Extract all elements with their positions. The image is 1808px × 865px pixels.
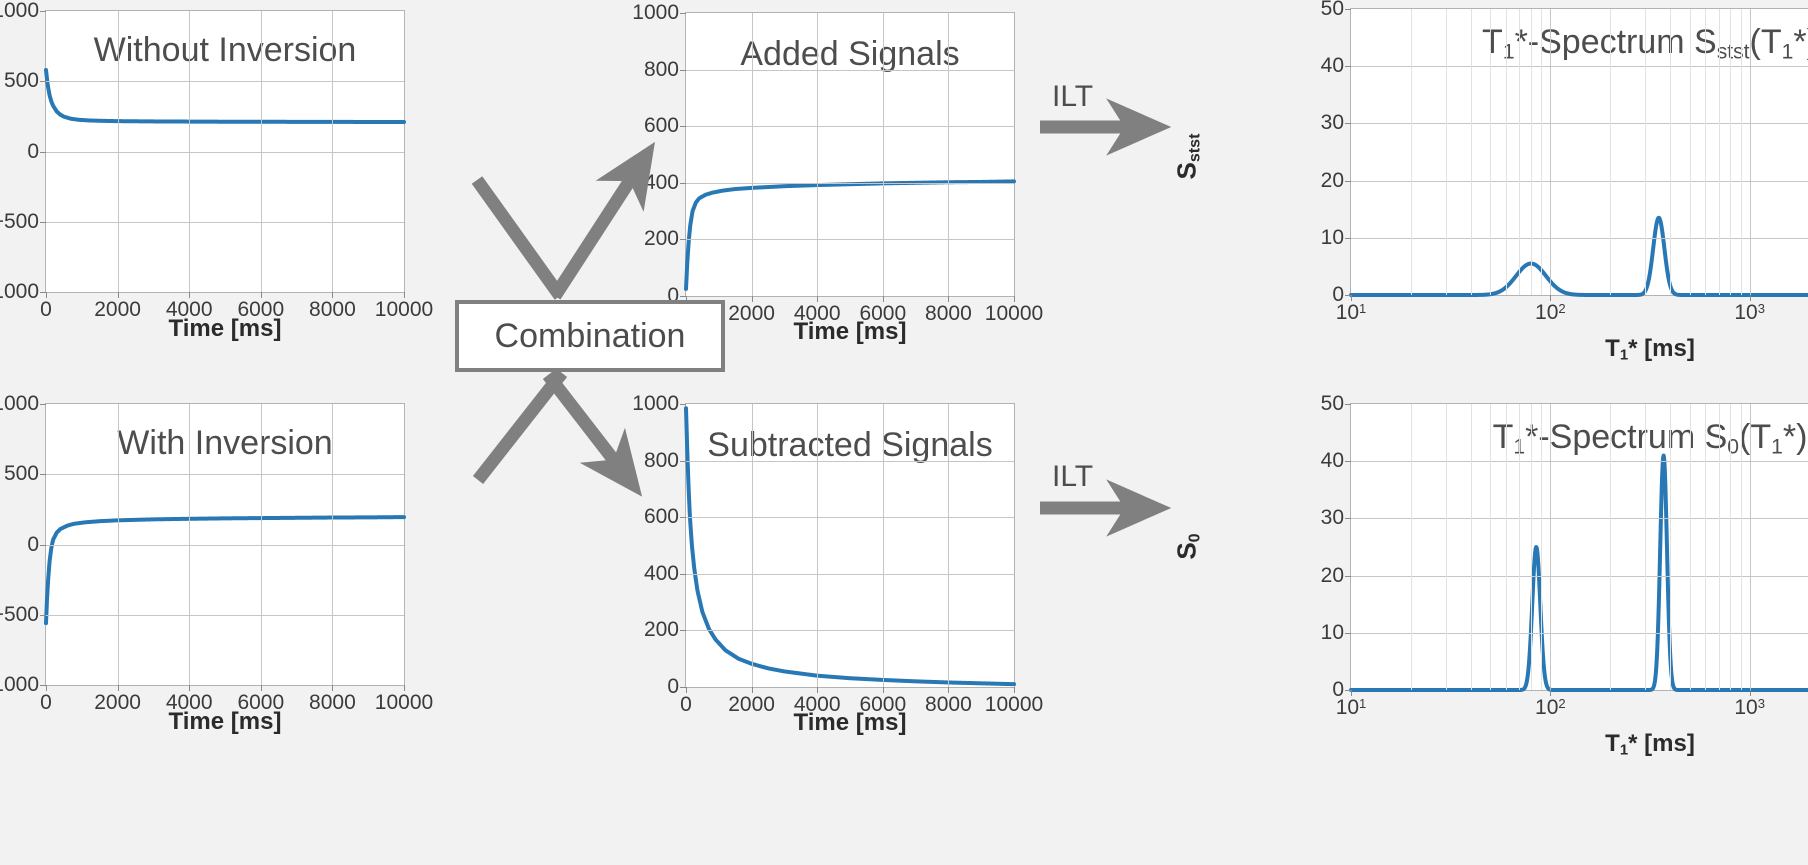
x-axis-tick-mark: [189, 685, 190, 691]
gridline-horizontal: [1351, 66, 1808, 67]
gridline-horizontal: [46, 81, 404, 82]
y-axis-tick-mark: [680, 13, 686, 14]
y-axis-tick-mark: [680, 183, 686, 184]
gridline-vertical: [752, 13, 753, 296]
gridline-vertical: [1550, 404, 1551, 690]
gridline-horizontal: [46, 222, 404, 223]
gridline-vertical-minor: [1670, 9, 1671, 295]
y-axis-tick-label: −500: [0, 603, 39, 627]
gridline-horizontal: [686, 239, 1014, 240]
gridline-vertical-minor: [1610, 9, 1611, 295]
arrow-with-inversion-to-combination: [478, 373, 562, 480]
y-axis-tick-label: 20: [1321, 564, 1344, 588]
y-axis-tick-label: 500: [4, 462, 39, 486]
gridline-vertical: [1550, 9, 1551, 295]
gridline-vertical-minor: [1730, 404, 1731, 690]
y-axis-tick-label: 50: [1321, 0, 1344, 21]
panel-subtracted-signals: Subtracted Signals 100080060040020000200…: [630, 385, 1050, 745]
gridline-vertical: [189, 404, 190, 685]
gridline-horizontal: [1351, 181, 1808, 182]
gridline-vertical: [817, 13, 818, 296]
y-axis-tick-mark: [1345, 518, 1351, 519]
x-axis-tick-mark: [817, 296, 818, 302]
x-axis-tick-mark: [817, 687, 818, 693]
gridline-horizontal: [1351, 633, 1808, 634]
y-axis-tick-label: 0: [27, 533, 39, 557]
gridline-vertical: [817, 404, 818, 687]
y-axis-tick-label: 40: [1321, 54, 1344, 78]
y-axis-tick-mark: [1345, 181, 1351, 182]
gridline-vertical-minor: [1531, 9, 1532, 295]
y-axis-tick-mark: [1345, 66, 1351, 67]
y-axis-tick-mark: [680, 70, 686, 71]
x-axis-tick-mark: [883, 296, 884, 302]
gridline-vertical-minor: [1519, 9, 1520, 295]
gridline-vertical-minor: [1645, 9, 1646, 295]
y-axis-tick-mark: [1345, 238, 1351, 239]
y-axis-tick-label: 30: [1321, 111, 1344, 135]
gridline-vertical: [948, 404, 949, 687]
gridline-vertical-minor: [1670, 404, 1671, 690]
y-axis-tick-label: −1000: [0, 280, 39, 304]
y-axis-tick-label: −1000: [0, 673, 39, 697]
x-axis-tick-mark: [686, 687, 687, 693]
gridline-vertical: [948, 13, 949, 296]
x-axis-tick-mark: [948, 296, 949, 302]
gridline-vertical-minor: [1471, 9, 1472, 295]
y-axis-tick-label: 1000: [632, 392, 679, 416]
xlabel-without-inversion: Time [ms]: [45, 315, 405, 343]
gridline-vertical-minor: [1645, 404, 1646, 690]
xlabel-spectrum-sstst: T1* [ms]: [1350, 335, 1808, 364]
gridline-vertical-minor: [1541, 9, 1542, 295]
gridline-vertical-minor: [1719, 9, 1720, 295]
gridline-vertical: [1750, 404, 1751, 690]
y-axis-tick-label: 200: [644, 227, 679, 251]
x-axis-tick-mark: [261, 292, 262, 298]
gridline-vertical: [189, 11, 190, 292]
xlabel-star: * [ms]: [1628, 335, 1695, 362]
ylabel-s0: S0: [1171, 502, 1204, 592]
gridline-vertical-minor: [1446, 9, 1447, 295]
ylabel-sstst: Sstst: [1171, 112, 1204, 202]
ylabel-s0-text: S: [1171, 542, 1201, 559]
y-axis-tick-mark: [40, 11, 46, 12]
gridline-horizontal: [1351, 238, 1808, 239]
y-axis-tick-label: 10: [1321, 226, 1344, 250]
arrow-combination-to-subtracted: [548, 375, 623, 472]
y-axis-tick-mark: [40, 222, 46, 223]
y-axis-tick-label: 50: [1321, 392, 1344, 416]
arrow-combination-to-added: [555, 168, 638, 296]
gridline-horizontal: [1351, 576, 1808, 577]
y-axis-tick-label: 10: [1321, 621, 1344, 645]
gridline-horizontal: [1351, 461, 1808, 462]
x-axis-tick-label: 103: [1734, 301, 1765, 325]
x-axis-tick-mark: [1014, 296, 1015, 302]
y-axis-tick-mark: [1345, 404, 1351, 405]
gridline-vertical: [118, 11, 119, 292]
gridline-horizontal: [686, 126, 1014, 127]
gridline-vertical-minor: [1411, 9, 1412, 295]
gridline-horizontal: [1351, 123, 1808, 124]
y-axis-tick-mark: [1345, 576, 1351, 577]
xlabel-sub: 1: [1620, 348, 1628, 364]
x-axis-tick-mark: [948, 687, 949, 693]
spectrum-curve-s0: [1351, 404, 1808, 692]
y-axis-tick-mark: [40, 81, 46, 82]
panel-spectrum-sstst: Sstst T1*-Spectrum Sstst(T1*) 5040302010…: [1150, 0, 1808, 375]
spectrum-curve-sstst: [1351, 9, 1808, 297]
y-axis-tick-mark: [1345, 461, 1351, 462]
x-axis-tick-mark: [332, 292, 333, 298]
axes-with-inversion: With Inversion 10005000−500−100002000400…: [45, 403, 405, 686]
axes-subtracted-signals: Subtracted Signals 100080060040020000200…: [685, 403, 1015, 688]
gridline-vertical-minor: [1705, 404, 1706, 690]
xlabel-t: T: [1605, 335, 1620, 362]
panel-without-inversion: Without Inversion 10005000−500−100002000…: [0, 0, 440, 360]
gridline-horizontal: [686, 517, 1014, 518]
y-axis-tick-label: 40: [1321, 449, 1344, 473]
gridline-vertical-minor: [1519, 404, 1520, 690]
x-axis-tick-mark: [1550, 690, 1551, 696]
y-axis-tick-label: 600: [644, 114, 679, 138]
gridline-vertical-minor: [1690, 404, 1691, 690]
axes-added-signals: Added Signals 10008006004002000020004000…: [685, 12, 1015, 297]
xlabel-sub: 1: [1620, 743, 1628, 759]
y-axis-tick-label: 800: [644, 449, 679, 473]
ylabel-sstst-text: S: [1171, 162, 1201, 179]
gridline-horizontal: [46, 474, 404, 475]
gridline-vertical-minor: [1411, 404, 1412, 690]
gridline-horizontal: [686, 70, 1014, 71]
x-axis-tick-mark: [46, 292, 47, 298]
y-axis-tick-mark: [1345, 633, 1351, 634]
gridline-vertical-minor: [1741, 404, 1742, 690]
gridline-horizontal: [686, 461, 1014, 462]
y-axis-tick-label: 200: [644, 618, 679, 642]
y-axis-tick-mark: [40, 404, 46, 405]
gridline-vertical-minor: [1541, 404, 1542, 690]
ilt-label-bottom: ILT: [1052, 460, 1093, 494]
y-axis-tick-mark: [40, 545, 46, 546]
gridline-horizontal: [1351, 518, 1808, 519]
gridline-vertical-minor: [1506, 404, 1507, 690]
x-axis-tick-label: 102: [1535, 696, 1566, 720]
gridline-horizontal: [46, 152, 404, 153]
gridline-vertical-minor: [1690, 9, 1691, 295]
x-axis-tick-mark: [332, 685, 333, 691]
y-axis-tick-mark: [1345, 123, 1351, 124]
x-axis-tick-mark: [404, 685, 405, 691]
xlabel-spectrum-s0: T1* [ms]: [1350, 730, 1808, 759]
y-axis-tick-mark: [680, 239, 686, 240]
y-axis-tick-label: 500: [4, 69, 39, 93]
gridline-vertical: [883, 13, 884, 296]
gridline-vertical: [883, 404, 884, 687]
x-axis-tick-mark: [1750, 295, 1751, 301]
x-axis-tick-mark: [752, 687, 753, 693]
gridline-vertical: [332, 11, 333, 292]
gridline-vertical: [752, 404, 753, 687]
x-axis-tick-label: 101: [1336, 696, 1367, 720]
x-axis-tick-mark: [1351, 295, 1352, 301]
xlabel-with-inversion: Time [ms]: [45, 708, 405, 736]
gridline-vertical-minor: [1719, 404, 1720, 690]
signal-curve-without-inversion: [46, 11, 406, 294]
x-axis-tick-mark: [1351, 690, 1352, 696]
x-axis-tick-mark: [752, 296, 753, 302]
x-axis-tick-mark: [261, 685, 262, 691]
ylabel-s0-sub: 0: [1186, 533, 1204, 542]
axes-spectrum-s0: T1*-Spectrum S0(T1*) 5040302010010110210…: [1350, 403, 1808, 691]
y-axis-tick-label: 600: [644, 505, 679, 529]
gridline-horizontal: [686, 574, 1014, 575]
x-axis-tick-mark: [118, 685, 119, 691]
y-axis-tick-label: 1000: [0, 392, 39, 416]
x-axis-tick-mark: [118, 292, 119, 298]
xlabel-subtracted-signals: Time [ms]: [685, 709, 1015, 737]
y-axis-tick-label: 800: [644, 58, 679, 82]
y-axis-tick-label: 30: [1321, 506, 1344, 530]
y-axis-tick-label: 1000: [0, 0, 39, 23]
arrow-without-inversion-to-combination: [477, 180, 560, 296]
y-axis-tick-mark: [1345, 9, 1351, 10]
y-axis-tick-mark: [680, 517, 686, 518]
ylabel-sstst-sub: stst: [1186, 134, 1204, 163]
signal-curve-added: [686, 13, 1016, 298]
y-axis-tick-mark: [680, 461, 686, 462]
gridline-vertical-minor: [1490, 9, 1491, 295]
gridline-vertical: [118, 404, 119, 685]
gridline-vertical-minor: [1531, 404, 1532, 690]
y-axis-tick-label: 0: [27, 140, 39, 164]
panel-spectrum-s0: S0 T1*-Spectrum S0(T1*) 5040302010010110…: [1150, 385, 1808, 765]
y-axis-tick-label: 400: [644, 562, 679, 586]
gridline-vertical: [1750, 9, 1751, 295]
x-axis-tick-label: 101: [1336, 301, 1367, 325]
gridline-horizontal: [46, 545, 404, 546]
x-axis-tick-label: 102: [1535, 301, 1566, 325]
panel-with-inversion: With Inversion 10005000−500−100002000400…: [0, 385, 440, 745]
x-axis-tick-mark: [883, 687, 884, 693]
gridline-vertical-minor: [1610, 404, 1611, 690]
gridline-vertical-minor: [1705, 9, 1706, 295]
gridline-vertical-minor: [1471, 404, 1472, 690]
xlabel-added-signals: Time [ms]: [685, 318, 1015, 346]
y-axis-tick-label: −500: [0, 210, 39, 234]
y-axis-tick-mark: [680, 574, 686, 575]
gridline-horizontal: [686, 630, 1014, 631]
gridline-vertical-minor: [1446, 404, 1447, 690]
x-axis-tick-mark: [1750, 690, 1751, 696]
y-axis-tick-mark: [40, 152, 46, 153]
y-axis-tick-mark: [680, 404, 686, 405]
y-axis-tick-mark: [680, 126, 686, 127]
gridline-vertical-minor: [1741, 9, 1742, 295]
gridline-vertical: [261, 404, 262, 685]
gridline-horizontal: [46, 615, 404, 616]
gridline-vertical-minor: [1730, 9, 1731, 295]
y-axis-tick-mark: [40, 615, 46, 616]
y-axis-tick-mark: [40, 474, 46, 475]
gridline-vertical-minor: [1506, 9, 1507, 295]
y-axis-tick-mark: [680, 630, 686, 631]
x-axis-tick-mark: [46, 685, 47, 691]
xlabel-t: T: [1605, 730, 1620, 757]
signal-curve-with-inversion: [46, 404, 406, 687]
signal-curve-subtracted: [686, 404, 1016, 689]
combination-box[interactable]: Combination: [455, 300, 725, 372]
x-axis-tick-mark: [189, 292, 190, 298]
ilt-label-top: ILT: [1052, 80, 1093, 114]
gridline-vertical: [261, 11, 262, 292]
gridline-horizontal: [686, 183, 1014, 184]
x-axis-tick-mark: [404, 292, 405, 298]
y-axis-tick-label: 20: [1321, 169, 1344, 193]
y-axis-tick-label: 1000: [632, 1, 679, 25]
y-axis-tick-label: 0: [667, 675, 679, 699]
x-axis-tick-mark: [1550, 295, 1551, 301]
xlabel-star: * [ms]: [1628, 730, 1695, 757]
y-axis-tick-label: 400: [644, 171, 679, 195]
axes-without-inversion: Without Inversion 10005000−500−100002000…: [45, 10, 405, 293]
gridline-vertical: [332, 404, 333, 685]
x-axis-tick-mark: [1014, 687, 1015, 693]
gridline-vertical-minor: [1490, 404, 1491, 690]
x-axis-tick-label: 103: [1734, 696, 1765, 720]
axes-spectrum-sstst: T1*-Spectrum Sstst(T1*) 5040302010010110…: [1350, 8, 1808, 296]
